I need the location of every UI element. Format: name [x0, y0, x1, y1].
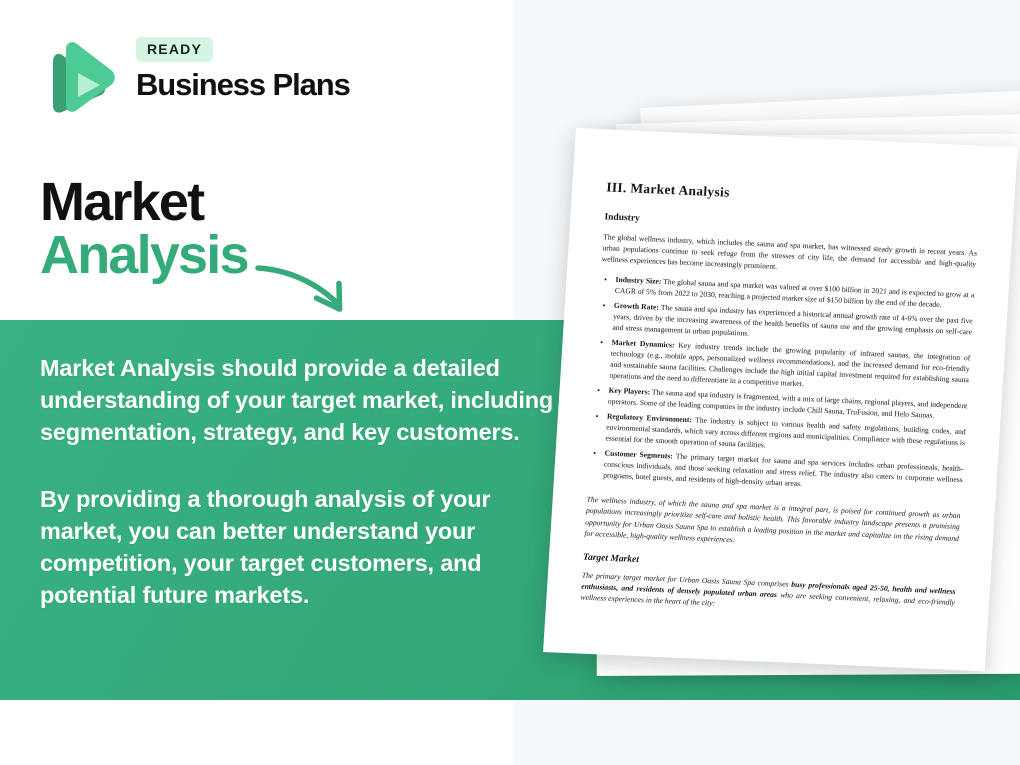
- document-stack: growthient.21 andsizerate ofs ofunas,ons…: [520, 100, 1020, 680]
- document-page-front: III. Market Analysis Industry The global…: [543, 128, 1018, 671]
- document-summary-paragraph: The wellness industry, of which the saun…: [584, 494, 961, 556]
- document-title: III. Market Analysis: [606, 179, 981, 211]
- document-bullet-label: Regulatory Environment:: [607, 412, 693, 425]
- brand-wordmark: Business Plans: [136, 69, 350, 102]
- page-title-line-1: Market: [40, 176, 460, 229]
- document-target-market-paragraph: The primary target market for Urban Oasi…: [580, 569, 956, 619]
- brand-header: READY Business Plans: [40, 33, 480, 123]
- document-bullet-label: Growth Rate:: [614, 301, 660, 312]
- play-triangle-logo: [40, 35, 122, 117]
- copy-paragraph-2: By providing a thorough analysis of your…: [40, 483, 560, 612]
- curved-arrow-down-right-icon: [250, 258, 380, 330]
- copy-paragraph-1: Market Analysis should provide a detaile…: [40, 352, 560, 449]
- document-page-content: III. Market Analysis Industry The global…: [546, 128, 1017, 621]
- body-copy: Market Analysis should provide a detaile…: [40, 352, 560, 611]
- document-intro-paragraph: The global wellness industry, which incl…: [601, 231, 977, 280]
- document-bullet-list: Industry Size: The global sauna and spa …: [588, 273, 975, 496]
- ready-badge: READY: [136, 37, 213, 62]
- document-bullet-label: Industry Size:: [615, 275, 661, 286]
- document-bullet-label: Key Players:: [608, 386, 650, 397]
- brand-text-block: READY Business Plans: [136, 37, 350, 102]
- document-bullet-label: Market Dynamics:: [611, 338, 674, 350]
- document-bullet-label: Customer Segments:: [604, 449, 673, 461]
